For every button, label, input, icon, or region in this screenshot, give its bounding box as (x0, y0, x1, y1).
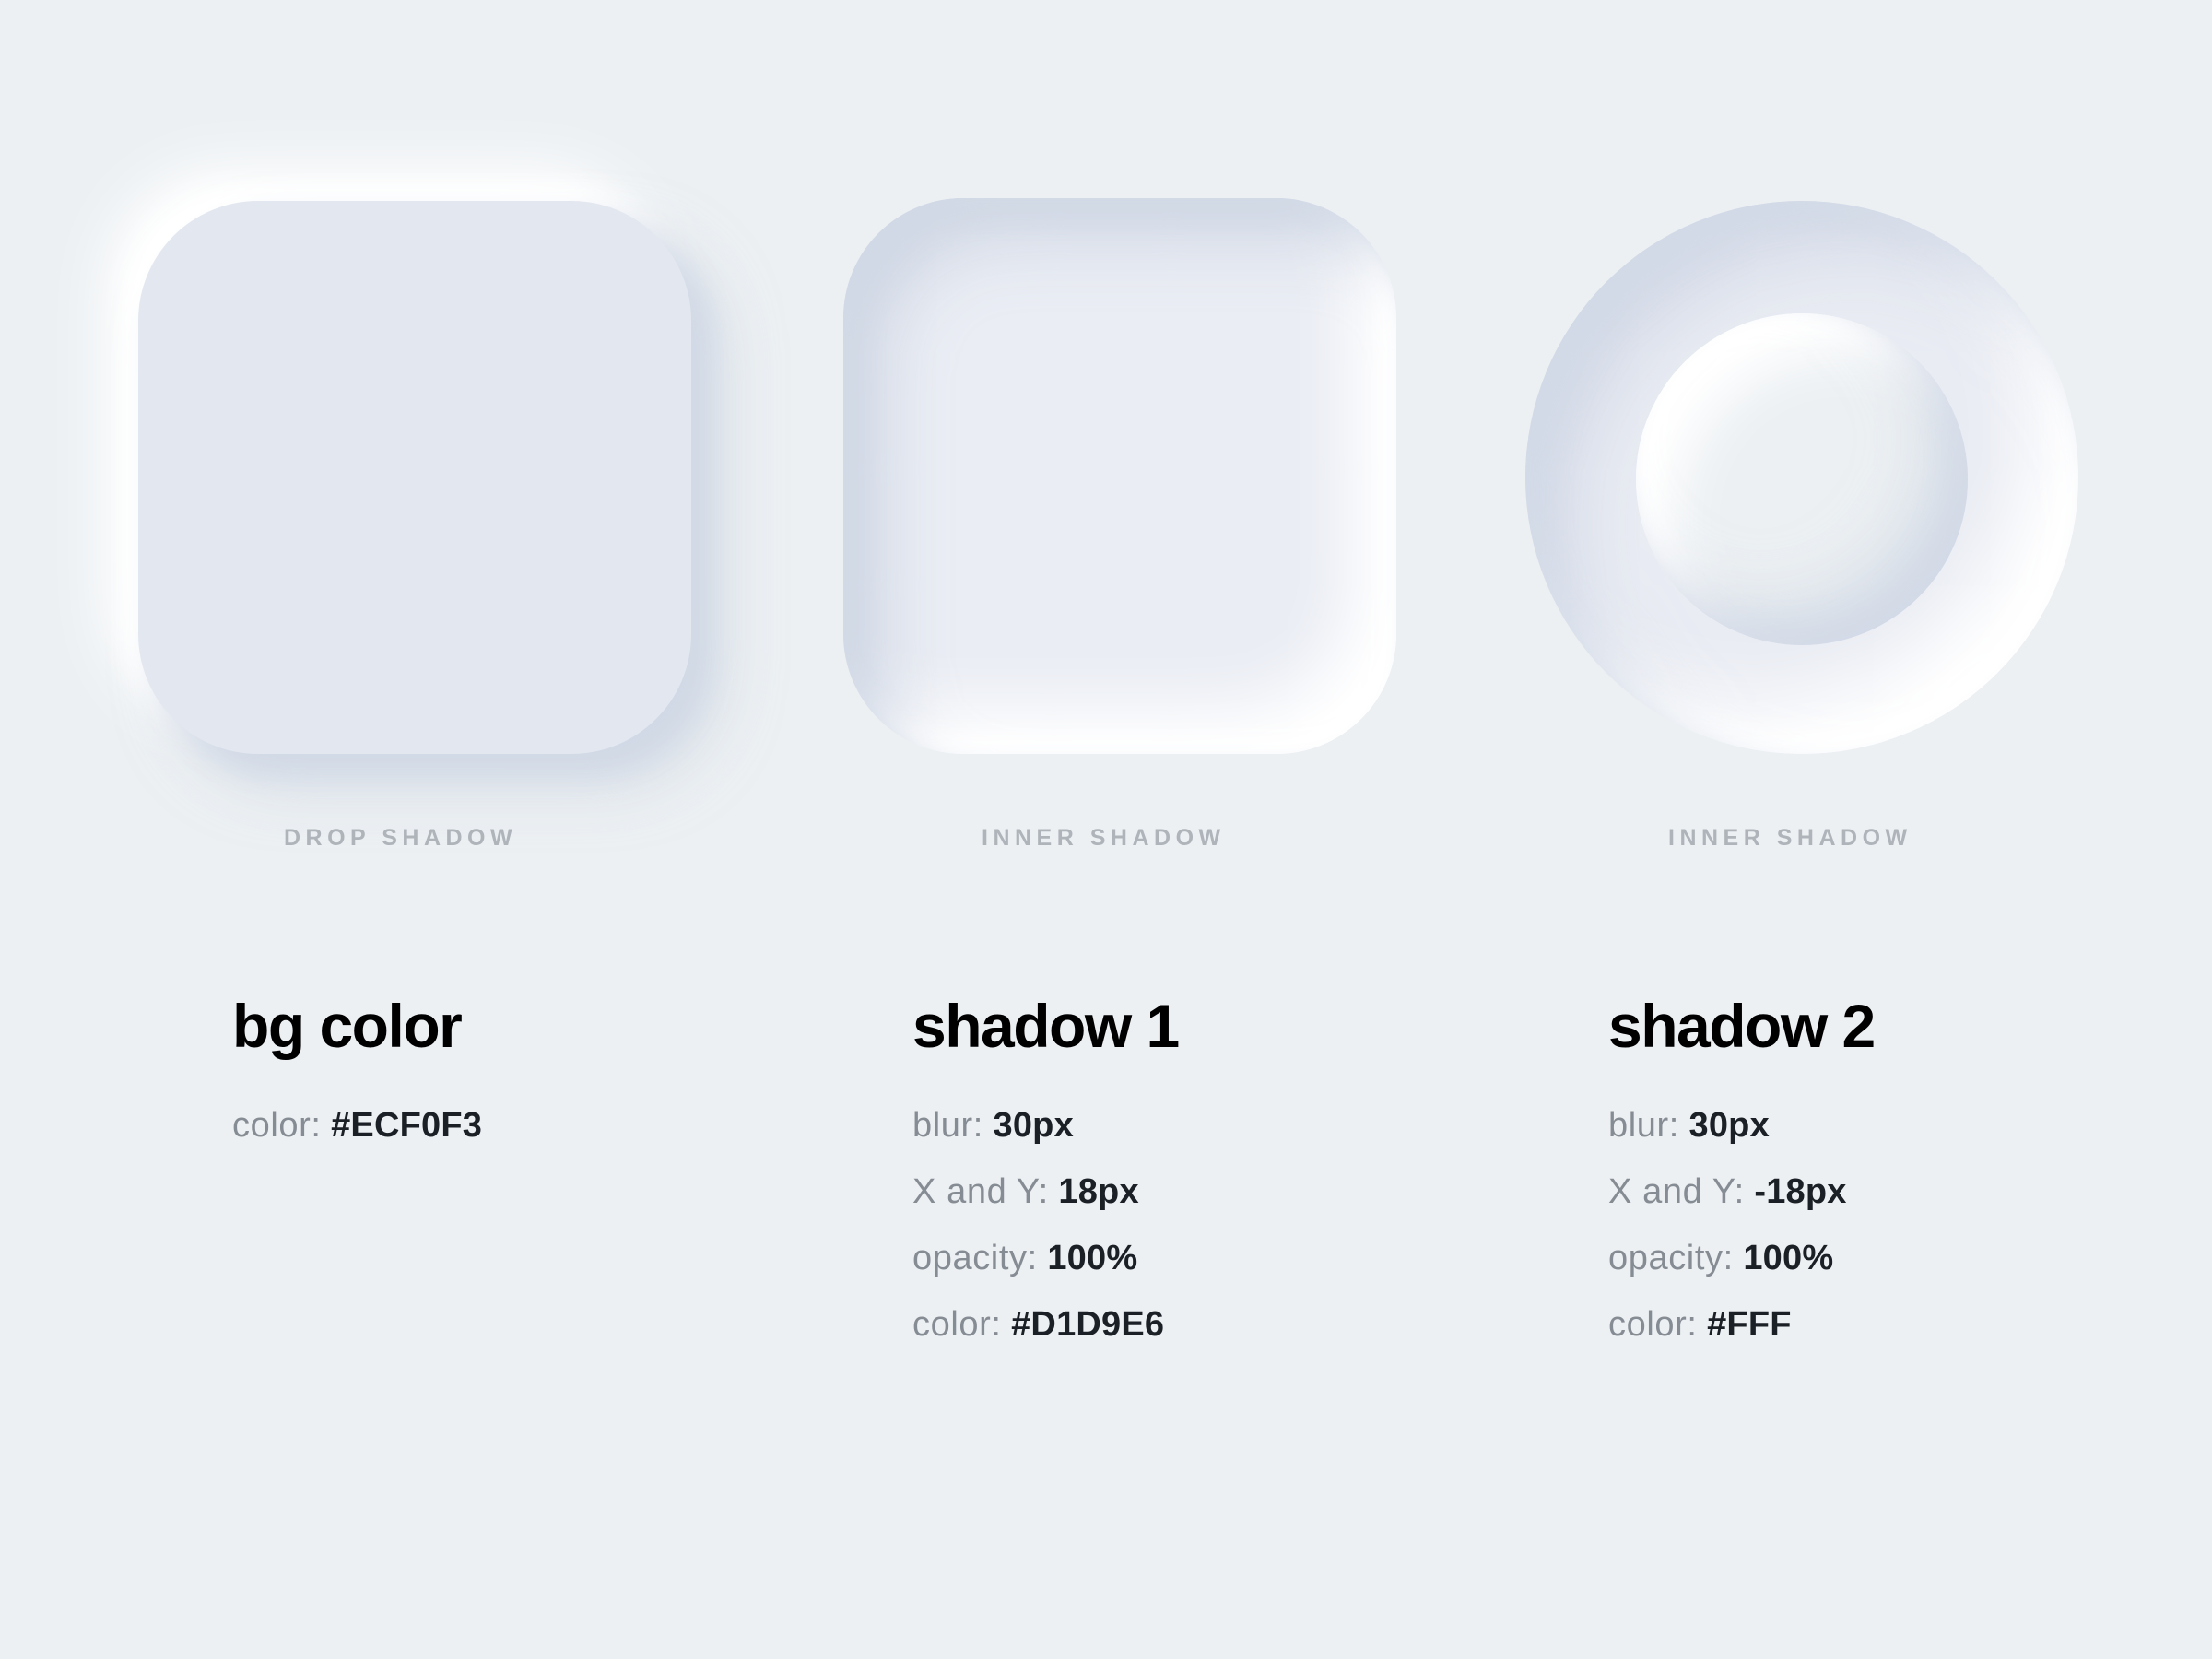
prop-label: color: (1608, 1305, 1698, 1344)
spec-card-shadow-2: shadow 2 blur: 30px X and Y: -18px opaci… (1608, 995, 1875, 1373)
prop-row: blur: 30px (912, 1108, 1179, 1143)
specimen-inner-shadow-square (843, 198, 1396, 754)
prop-row: opacity: 100% (1608, 1241, 1875, 1276)
spec-card-shadow-1: shadow 1 blur: 30px X and Y: 18px opacit… (912, 995, 1179, 1373)
ring-inner-shadow (1525, 201, 2078, 754)
prop-value: 30px (993, 1106, 1073, 1145)
specimen-row: DROP SHADOW INNER SHADOW INNER SHADOW (0, 0, 2212, 922)
rounded-square-inner-shadow (843, 198, 1396, 754)
prop-list-shadow-1: blur: 30px X and Y: 18px opacity: 100% c… (912, 1108, 1179, 1342)
caption-inner-shadow-square: INNER SHADOW (982, 825, 1226, 852)
caption-drop-shadow: DROP SHADOW (284, 825, 517, 852)
prop-label: opacity: (912, 1239, 1038, 1277)
prop-value: #ECF0F3 (331, 1106, 482, 1145)
prop-label: X and Y: (1608, 1172, 1745, 1211)
prop-value: 100% (1743, 1239, 1833, 1277)
prop-list-shadow-2: blur: 30px X and Y: -18px opacity: 100% … (1608, 1108, 1875, 1342)
prop-value: 30px (1688, 1106, 1769, 1145)
prop-label: color: (912, 1305, 1002, 1344)
specimen-inner-shadow-ring (1525, 201, 2078, 754)
prop-row: opacity: 100% (912, 1241, 1179, 1276)
card-title-shadow-2: shadow 2 (1608, 995, 1875, 1056)
prop-row: X and Y: -18px (1608, 1174, 1875, 1209)
spec-card-bg-color: bg color color: #ECF0F3 (232, 995, 482, 1174)
card-title-shadow-1: shadow 1 (912, 995, 1179, 1056)
prop-row: blur: 30px (1608, 1108, 1875, 1143)
prop-value: #FFF (1707, 1305, 1792, 1344)
specimen-drop-shadow (138, 201, 691, 754)
prop-value: #D1D9E6 (1011, 1305, 1164, 1344)
prop-row: X and Y: 18px (912, 1174, 1179, 1209)
prop-label: blur: (1608, 1106, 1679, 1145)
prop-label: blur: (912, 1106, 983, 1145)
prop-row: color: #FFF (1608, 1307, 1875, 1342)
rounded-square-drop-shadow (138, 201, 691, 754)
prop-label: color: (232, 1106, 322, 1145)
ring-hole (1636, 313, 1968, 645)
prop-row: color: #D1D9E6 (912, 1307, 1179, 1342)
prop-value: 18px (1058, 1172, 1138, 1211)
prop-label: X and Y: (912, 1172, 1049, 1211)
prop-value: -18px (1754, 1172, 1846, 1211)
prop-row: color: #ECF0F3 (232, 1108, 482, 1143)
caption-inner-shadow-ring: INNER SHADOW (1668, 825, 1912, 852)
card-title-bg-color: bg color (232, 995, 482, 1056)
prop-label: opacity: (1608, 1239, 1734, 1277)
prop-value: 100% (1047, 1239, 1137, 1277)
prop-list-bg-color: color: #ECF0F3 (232, 1108, 482, 1143)
